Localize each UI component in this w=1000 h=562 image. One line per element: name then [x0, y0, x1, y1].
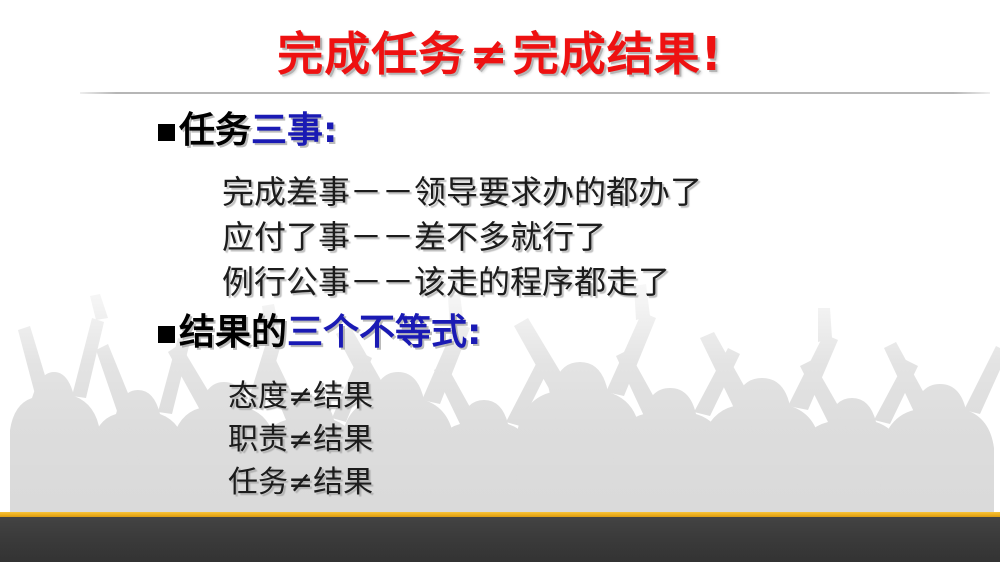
list-item: 态度≠结果: [228, 375, 373, 418]
heading-1-black-text: 任务: [179, 110, 251, 151]
title-part-left: 完成任务: [277, 27, 465, 81]
list-item: 例行公事－－该走的程序都走了: [222, 260, 702, 305]
title-part-right: 完成结果!: [513, 27, 723, 81]
list-item: 任务≠结果: [228, 461, 373, 504]
section-heading-results: 结果的三个不等式:: [158, 315, 481, 351]
bullet-square-icon: [158, 326, 175, 343]
bullet-square-icon: [158, 124, 175, 141]
presentation-slide: 完成任务≠完成结果! 任务三事: 完成差事－－领导要求办的都办了 应付了事－－差…: [0, 0, 1000, 562]
list-item: 完成差事－－领导要求办的都办了: [222, 170, 702, 215]
heading-2-black-text: 结果的: [179, 312, 287, 353]
dark-footer-bar: [0, 517, 1000, 562]
list-item: 应付了事－－差不多就行了: [222, 215, 702, 260]
inequality-items-list: 态度≠结果 职责≠结果 任务≠结果: [228, 375, 373, 504]
task-items-list: 完成差事－－领导要求办的都办了 应付了事－－差不多就行了 例行公事－－该走的程序…: [222, 170, 702, 305]
heading-1-blue-text: 三事:: [251, 110, 337, 151]
list-item: 职责≠结果: [228, 418, 373, 461]
section-heading-tasks: 任务三事:: [158, 113, 337, 149]
title-divider-line: [80, 92, 990, 94]
slide-title: 完成任务≠完成结果!: [0, 18, 1000, 84]
not-equal-symbol: ≠: [465, 27, 513, 81]
heading-2-blue-text: 三个不等式:: [287, 312, 481, 353]
